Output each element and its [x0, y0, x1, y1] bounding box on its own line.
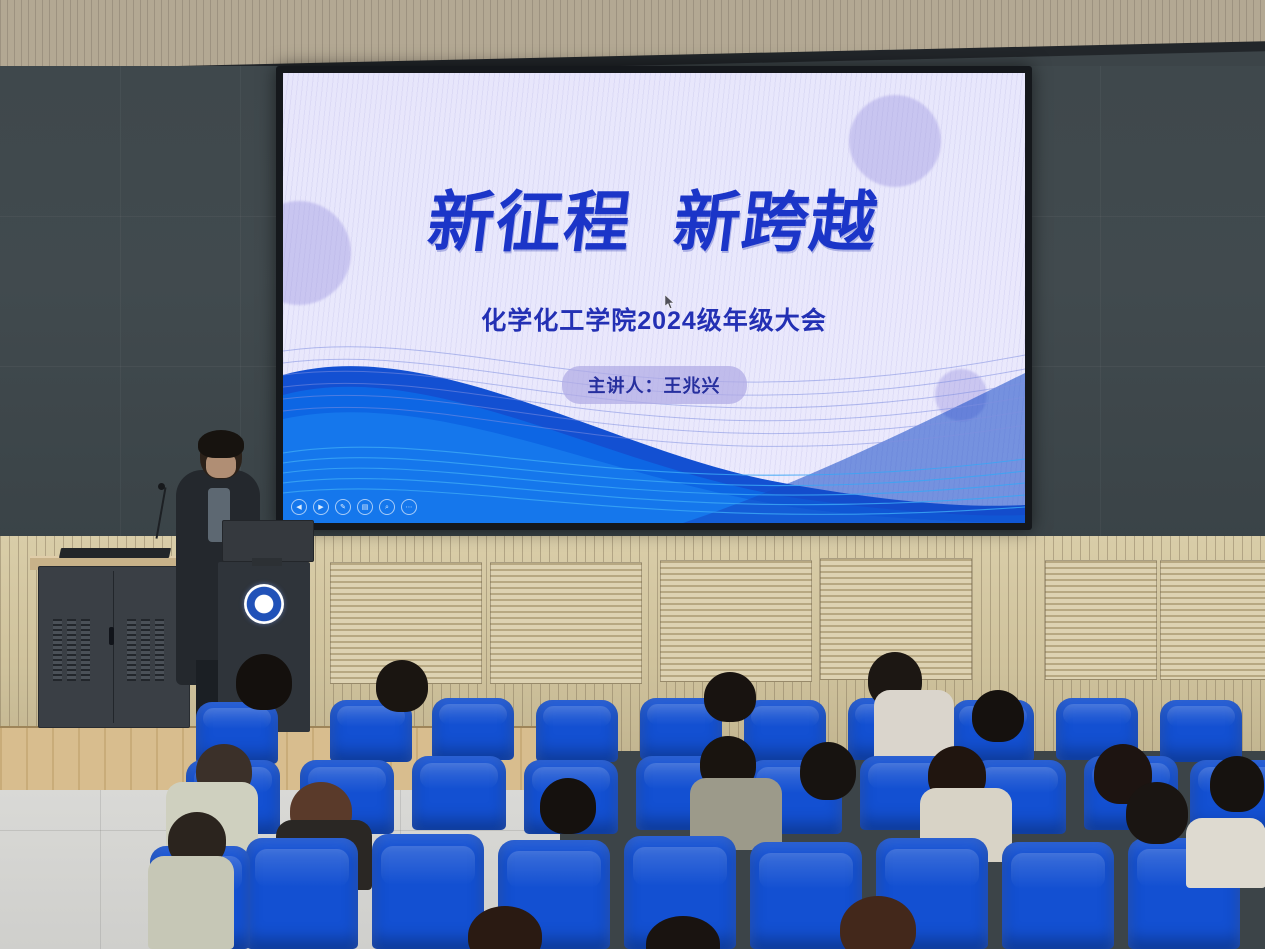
- projection-screen-bezel: 新征程新跨越 化学化工学院2024级年级大会 主讲人：王兆兴 ◀ ▶ ✎ ▤ ⌕…: [276, 66, 1032, 530]
- audience-head: [1210, 756, 1264, 812]
- ventilation-grille: [490, 562, 642, 684]
- audience-head: [540, 778, 596, 834]
- presenter-badge: 主讲人：王兆兴: [562, 366, 747, 404]
- seat: [1002, 842, 1114, 949]
- seat: [432, 698, 514, 760]
- audience-head: [1126, 782, 1188, 844]
- ventilation-grille: [1045, 560, 1157, 680]
- mouse-pointer-icon: [665, 295, 675, 309]
- seat: [412, 756, 506, 830]
- audience-head: [800, 742, 856, 800]
- more-options-icon[interactable]: ⋯: [401, 499, 417, 515]
- audience-head: [972, 690, 1024, 742]
- audience-coat: [148, 856, 234, 949]
- laptop-on-desk: [59, 548, 171, 558]
- ppt-presentation-toolbar[interactable]: ◀ ▶ ✎ ▤ ⌕ ⋯: [291, 499, 417, 515]
- slide-subtitle: 化学化工学院2024级年级大会: [283, 301, 1025, 337]
- wave-graphic: [283, 333, 1025, 523]
- audience-coat: [1186, 818, 1265, 888]
- podium-monitor: [222, 520, 314, 562]
- zoom-magnifier-icon[interactable]: ⌕: [379, 499, 395, 515]
- slide-main-title: 新征程新跨越: [283, 169, 1025, 265]
- seat: [536, 700, 618, 762]
- audience-head: [376, 660, 428, 712]
- pen-annotation-icon[interactable]: ✎: [335, 499, 351, 515]
- presenter-badge-wrap: 主讲人：王兆兴: [283, 366, 1025, 404]
- presenter-hair: [198, 430, 244, 458]
- university-seal-emblem: [244, 584, 284, 624]
- audience-head: [236, 654, 292, 710]
- seat: [1160, 700, 1242, 762]
- next-slide-icon[interactable]: ▶: [313, 499, 329, 515]
- av-equipment-cabinet: [38, 566, 190, 728]
- previous-slide-icon[interactable]: ◀: [291, 499, 307, 515]
- slide-surface[interactable]: 新征程新跨越 化学化工学院2024级年级大会 主讲人：王兆兴 ◀ ▶ ✎ ▤ ⌕…: [283, 73, 1025, 523]
- ventilation-grille: [660, 560, 812, 682]
- seat: [246, 838, 358, 949]
- microphone-head-icon: [158, 483, 165, 490]
- title-right-text: 新跨越: [670, 187, 883, 260]
- seat: [372, 834, 484, 949]
- title-left-text: 新征程: [424, 187, 637, 260]
- all-slides-icon[interactable]: ▤: [357, 499, 373, 515]
- lecture-hall-photo: 新征程新跨越 化学化工学院2024级年级大会 主讲人：王兆兴 ◀ ▶ ✎ ▤ ⌕…: [0, 0, 1265, 949]
- audience-head: [704, 672, 756, 722]
- ventilation-grille: [1160, 560, 1265, 680]
- monitor-stand: [252, 558, 282, 566]
